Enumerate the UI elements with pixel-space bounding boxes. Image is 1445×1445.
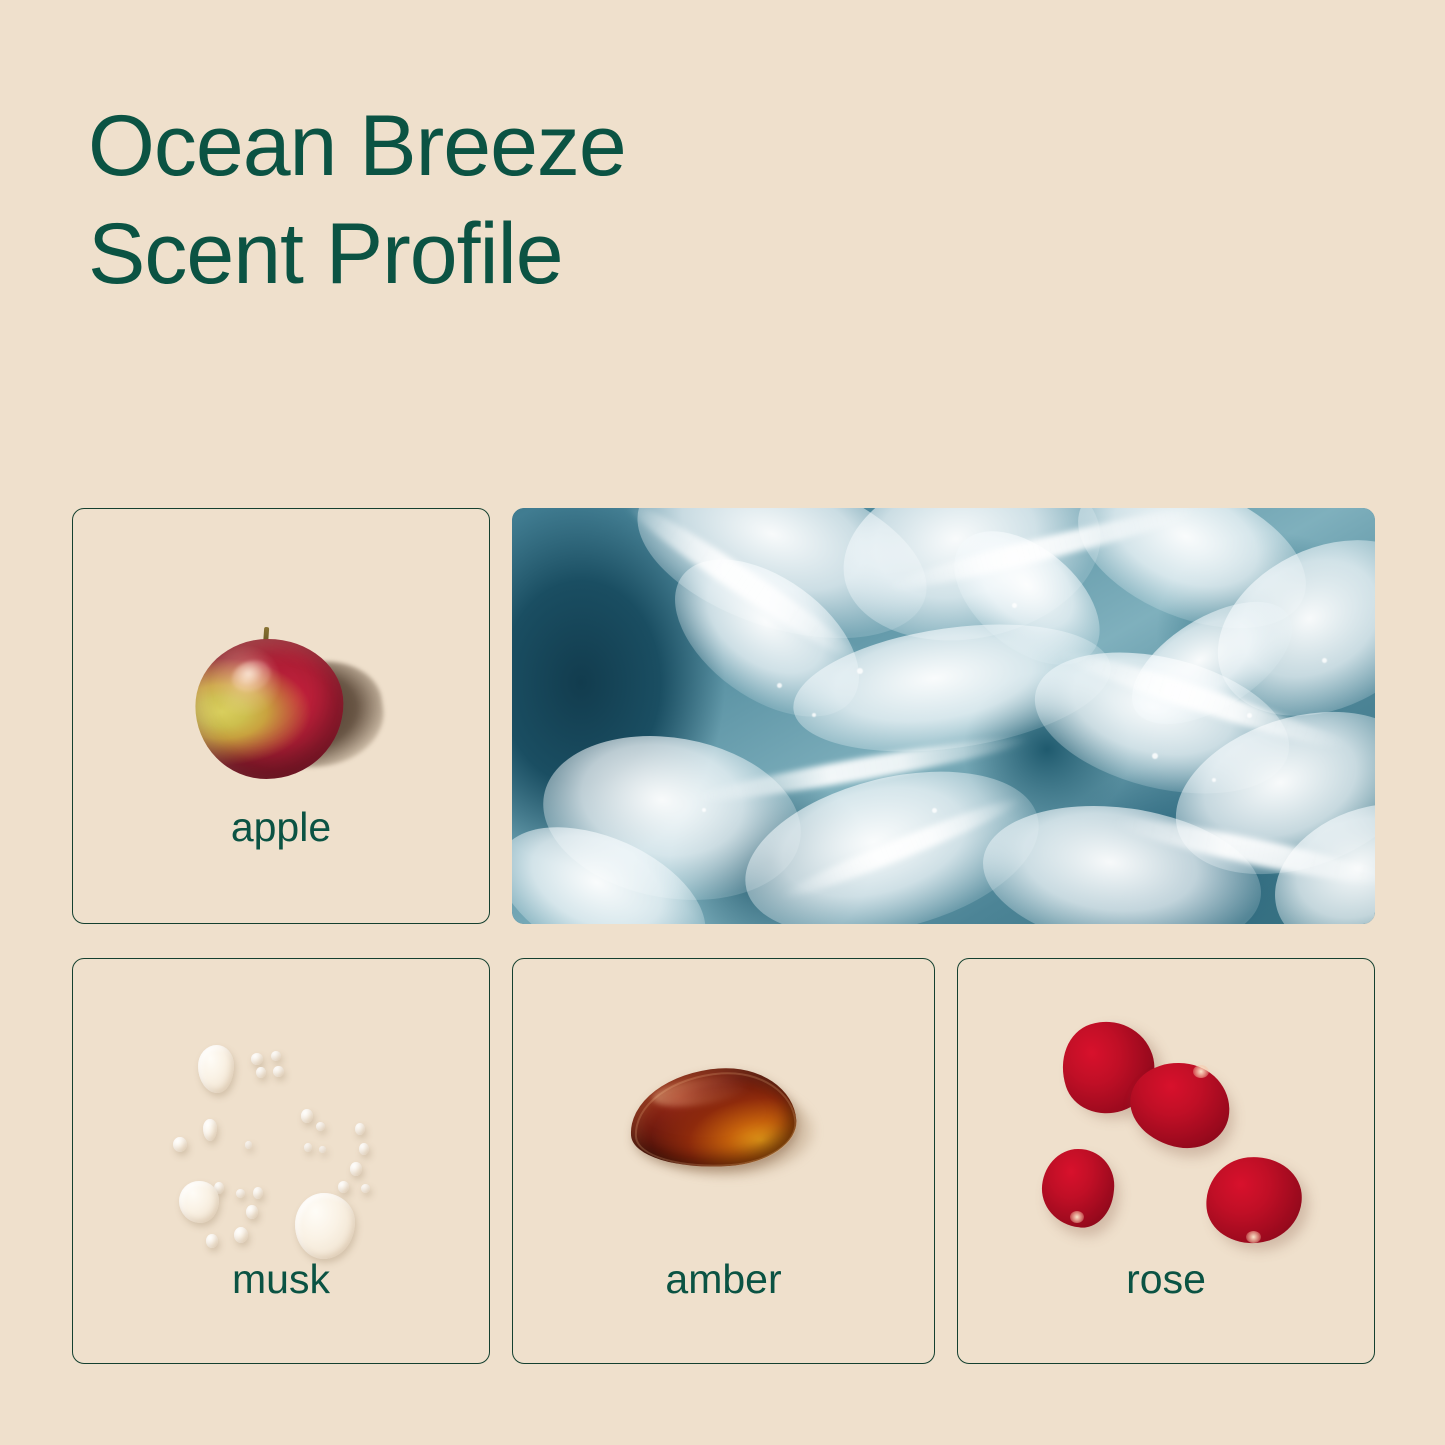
water-spray-dot (812, 713, 816, 717)
apple-photo (73, 509, 489, 809)
water-spray-dot (857, 668, 863, 674)
ingredient-card-ocean[interactable] (512, 508, 1375, 924)
gel-droplet (295, 1193, 355, 1259)
gel-droplet (355, 1123, 365, 1135)
water-spray-dot (1212, 778, 1216, 782)
gel-droplet (361, 1184, 370, 1193)
ingredient-grid: apple (72, 508, 1375, 1364)
gel-droplet (319, 1146, 326, 1153)
gel-droplet (316, 1122, 325, 1131)
gel-droplet (251, 1053, 263, 1065)
gel-droplet (236, 1189, 245, 1198)
gel-droplet (359, 1143, 369, 1155)
rose-petal-tip (1246, 1231, 1261, 1243)
apple-illustration (187, 621, 367, 791)
ingredient-card-apple[interactable]: apple (72, 508, 490, 924)
water-spray-dot (1012, 603, 1017, 608)
water-spray-dot (932, 808, 937, 813)
gel-droplet (350, 1162, 362, 1176)
water-spray-dot (702, 808, 706, 812)
ingredient-card-amber[interactable]: amber (512, 958, 935, 1364)
gel-droplet (253, 1187, 263, 1199)
amber-stone-photo (624, 1067, 824, 1187)
gel-droplets-photo (73, 1029, 489, 1249)
rose-petal-tip (1070, 1211, 1084, 1223)
gel-droplet (246, 1205, 258, 1219)
gel-droplet (304, 1143, 312, 1152)
water-spray-dot (1152, 753, 1158, 759)
gel-droplet (271, 1051, 281, 1061)
gel-droplet (173, 1137, 187, 1152)
gel-droplet (206, 1234, 218, 1248)
ocean-wave-photo (512, 508, 1375, 924)
gel-droplet (234, 1227, 248, 1243)
gel-droplet (273, 1066, 284, 1077)
card-label-amber: amber (513, 1256, 934, 1303)
gel-droplet (245, 1141, 252, 1149)
gel-droplet (179, 1181, 219, 1223)
card-label-musk: musk (73, 1256, 489, 1303)
water-spray-dot (1247, 713, 1252, 718)
card-label-apple: apple (73, 804, 489, 851)
gel-droplet (203, 1119, 217, 1141)
water-spray-dot (1322, 658, 1327, 663)
gel-droplet (338, 1181, 349, 1193)
scent-profile-page: Ocean Breeze Scent Profile apple (0, 0, 1445, 1445)
rose-petal-tip (1193, 1065, 1209, 1078)
gel-droplet (198, 1045, 234, 1093)
water-spray-dot (777, 683, 782, 688)
gel-droplet (301, 1109, 313, 1123)
ingredient-card-musk[interactable]: musk (72, 958, 490, 1364)
gel-droplet (256, 1067, 266, 1078)
rose-petals-photo (958, 1005, 1374, 1255)
page-title: Ocean Breeze Scent Profile (88, 92, 988, 309)
card-label-rose: rose (958, 1256, 1374, 1303)
ingredient-card-rose[interactable]: rose (957, 958, 1375, 1364)
